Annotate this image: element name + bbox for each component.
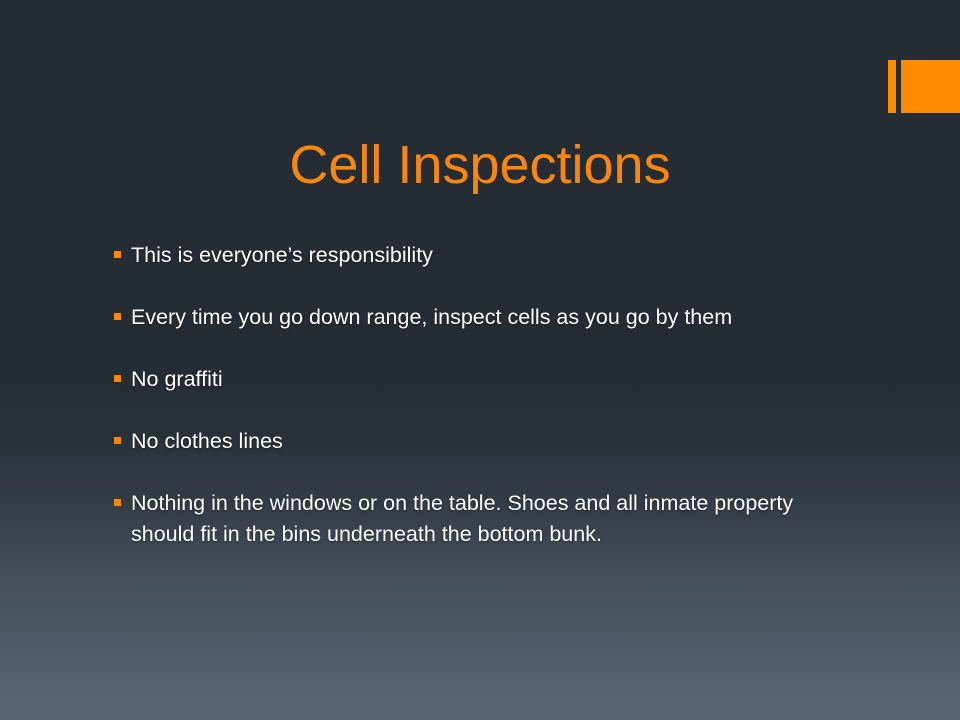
corner-accent-thin-bar bbox=[888, 60, 896, 113]
presentation-slide: Cell Inspections This is everyone’s resp… bbox=[0, 0, 960, 720]
bullet-item: Nothing in the windows or on the table. … bbox=[110, 488, 855, 550]
corner-accent-block bbox=[901, 60, 960, 113]
bullet-text: This is everyone’s responsibility bbox=[131, 240, 855, 271]
bullet-square-icon bbox=[114, 499, 121, 506]
bullet-item: Every time you go down range, inspect ce… bbox=[110, 302, 855, 333]
bullet-square-icon bbox=[114, 251, 121, 258]
bullet-item: No clothes lines bbox=[110, 426, 855, 457]
bullet-square-icon bbox=[114, 437, 121, 444]
bullet-text: Every time you go down range, inspect ce… bbox=[131, 302, 855, 333]
bullet-item: No graffiti bbox=[110, 364, 855, 395]
bullet-square-icon bbox=[114, 375, 121, 382]
bullet-list: This is everyone’s responsibility Every … bbox=[110, 240, 855, 550]
bullet-text: No clothes lines bbox=[131, 426, 855, 457]
bullet-square-icon bbox=[114, 313, 121, 320]
bullet-text: No graffiti bbox=[131, 364, 855, 395]
slide-title: Cell Inspections bbox=[0, 133, 960, 197]
bullet-item: This is everyone’s responsibility bbox=[110, 240, 855, 271]
bullet-text: Nothing in the windows or on the table. … bbox=[131, 488, 855, 550]
